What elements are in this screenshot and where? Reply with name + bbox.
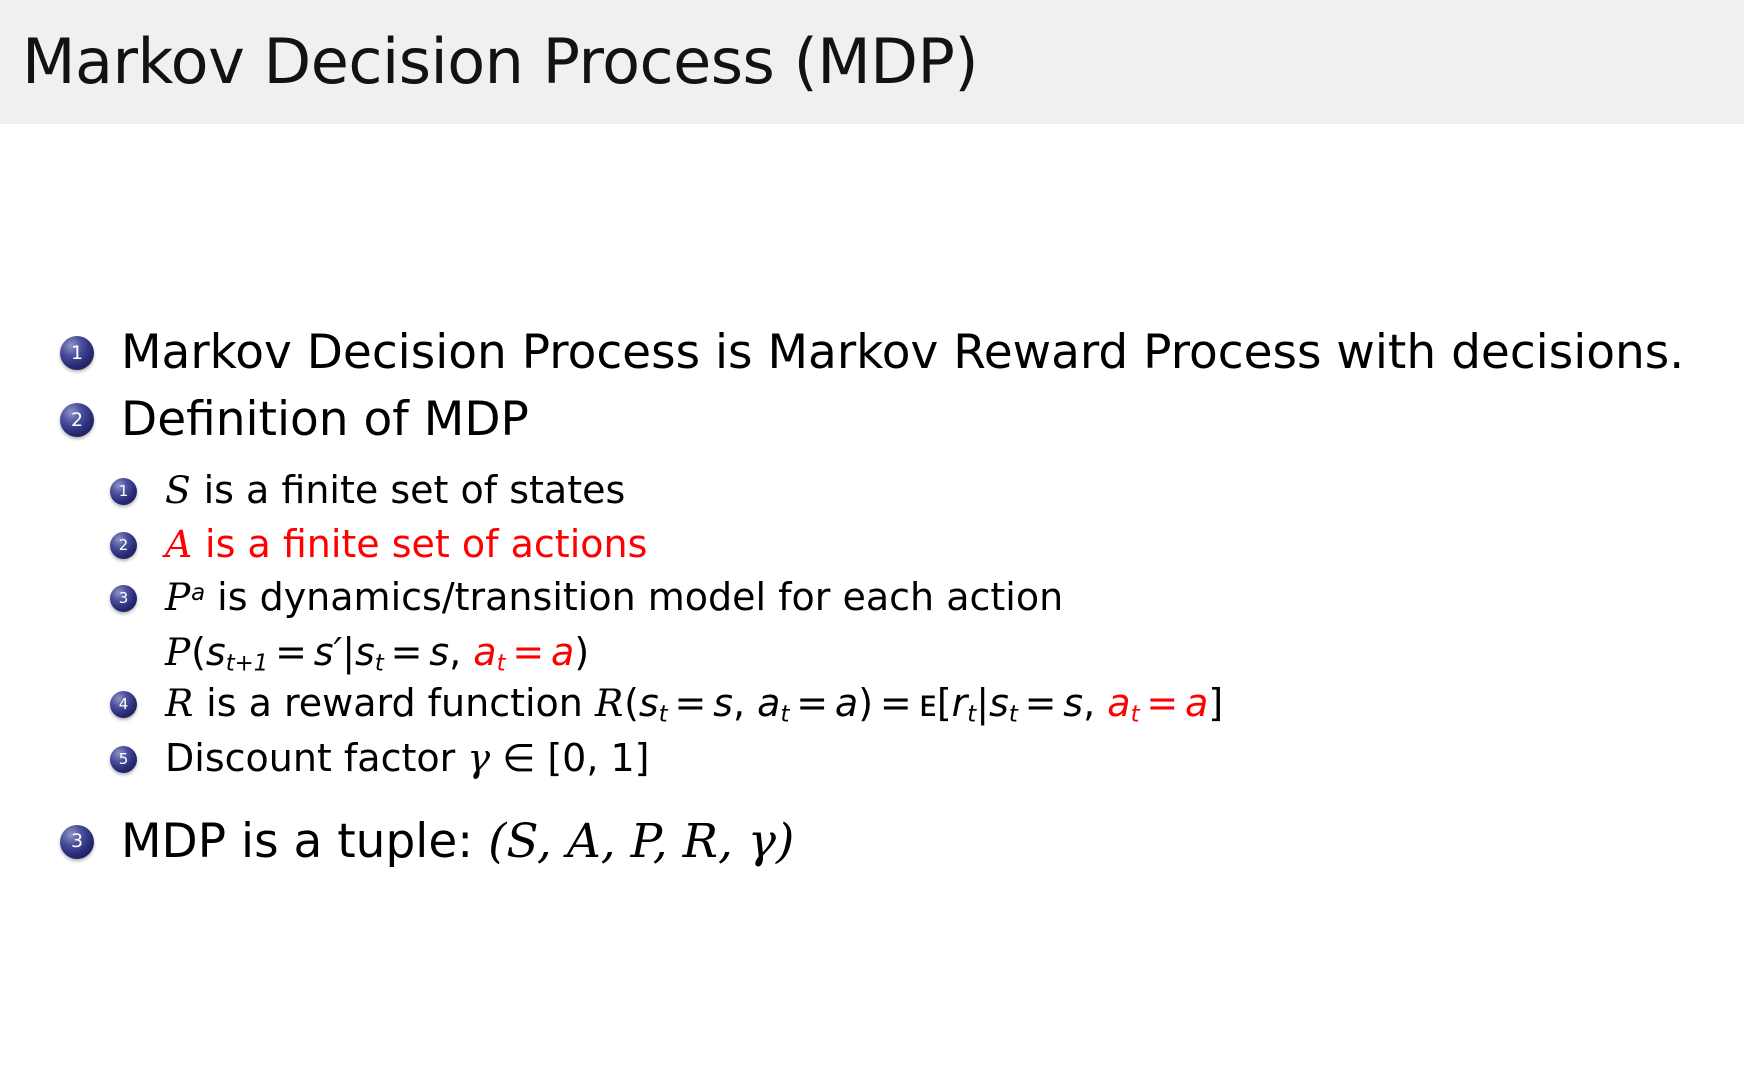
sub-list-item-label: Discount factor (165, 736, 455, 780)
reward-val-a2: a (1185, 681, 1208, 725)
formula-var-s-t: s (355, 630, 375, 674)
sub-list-item: 4 R is a reward function R(st=s, at=a)=ᴇ… (110, 680, 1744, 729)
formula-sub-tplus1: t+1 (226, 651, 269, 677)
reward-var-a2: a (1107, 681, 1130, 725)
slide-header: Markov Decision Process (MDP) (0, 0, 1744, 124)
reward-sub-t4: t (1009, 701, 1018, 727)
reward-equals-4: = (1140, 681, 1186, 725)
sub-list-item: 3 Pa is dynamics/transition model for ea… (110, 574, 1744, 622)
sub-list-item-text-highlighted: A is a finite set of actions (165, 521, 647, 569)
sub-list-item-label: is dynamics/transition model for each ac… (217, 575, 1063, 619)
list-item: 3 MDP is a tuple: (S, A, P, R, γ) (0, 813, 1744, 870)
formula-var-s-next: s (206, 630, 226, 674)
formula-val-sprime: s′ (314, 630, 342, 674)
reward-val-s2: s (1063, 681, 1083, 725)
math-symbol-P: P (165, 575, 191, 619)
reward-equals-mid: = (873, 681, 919, 725)
reward-action-term: at=a (1107, 681, 1208, 725)
formula-action-term: at=a (473, 630, 574, 674)
sub-list-item-label: is a finite set of states (204, 468, 626, 512)
reward-val-s: s (713, 681, 733, 725)
page-title: Markov Decision Process (MDP) (0, 31, 978, 93)
list-item: 1 Markov Decision Process is Markov Rewa… (0, 324, 1744, 381)
formula-val-s: s (429, 630, 449, 674)
reward-sub-t1: t (659, 701, 668, 727)
sub-outline-list: 1 S is a finite set of states 2 A is a f… (0, 467, 1744, 783)
reward-var-s: s (639, 681, 659, 725)
list-item-text: Markov Decision Process is Markov Reward… (121, 324, 1684, 381)
sub-list-item-label: is a reward function (206, 681, 583, 725)
reward-sub-t5: t (1131, 701, 1140, 727)
bullet-badge-2-1: 1 (110, 478, 137, 505)
reward-fn-R: R (595, 681, 624, 725)
formula-equals-3: = (506, 630, 552, 674)
formula-paren-open: ( (191, 630, 206, 674)
bullet-badge-2: 2 (60, 403, 94, 437)
mdp-tuple-expression: (S, A, P, R, γ) (488, 814, 795, 869)
bullet-badge-2-4: 4 (110, 691, 137, 718)
formula-sub-t-action: t (497, 651, 506, 677)
reward-var-s2: s (989, 681, 1009, 725)
reward-comma-2: , (1083, 681, 1095, 725)
reward-paren-close: ) (858, 681, 873, 725)
reward-bracket-close: ] (1208, 681, 1223, 725)
formula-val-a: a (551, 630, 574, 674)
outline-list: 1 Markov Decision Process is Markov Rewa… (0, 324, 1744, 880)
math-symbol-A: A (165, 522, 193, 566)
formula-fn-P: P (165, 630, 191, 674)
expectation-symbol: ᴇ (919, 681, 937, 725)
element-of-symbol: ∈ (502, 736, 535, 780)
formula-var-a-t: a (473, 630, 496, 674)
sub-list-item-text: Discount factor γ ∈ [0, 1] (165, 735, 650, 783)
list-item: 2 Definition of MDP (0, 391, 1744, 448)
math-symbol-S: S (165, 468, 192, 512)
reward-sub-t3: t (967, 701, 976, 727)
reward-var-a: a (757, 681, 780, 725)
math-superscript-a: a (191, 580, 205, 606)
reward-equals-3: = (1018, 681, 1064, 725)
sub-list-item-label: is a finite set of actions (205, 522, 647, 566)
bullet-badge-2-2: 2 (110, 532, 137, 559)
formula-comma: , (449, 630, 461, 674)
sub-list-item: 2 A is a finite set of actions (110, 521, 1744, 569)
reward-bracket-open: [ (937, 681, 952, 725)
reward-var-r: r (952, 681, 968, 725)
formula-bar: | (342, 630, 355, 674)
sub-list-item-text: R is a reward function R(st=s, at=a)=ᴇ[r… (165, 680, 1223, 729)
formula-equals-2: = (384, 630, 430, 674)
discount-interval: [0, 1] (547, 736, 649, 780)
slide-content: 1 Markov Decision Process is Markov Rewa… (0, 124, 1744, 1080)
reward-bar: | (976, 681, 989, 725)
sub-list-item-text: S is a finite set of states (165, 467, 625, 515)
reward-equals-2: = (789, 681, 835, 725)
sub-list-item: 5 Discount factor γ ∈ [0, 1] (110, 735, 1744, 783)
slide-root: { "slide": { "title": "Markov Decision P… (0, 0, 1744, 1080)
list-item-text: Definition of MDP (121, 391, 529, 448)
formula-sub-t: t (375, 651, 384, 677)
sub-list-item-text: Pa is dynamics/transition model for each… (165, 574, 1063, 622)
bullet-badge-2-3: 3 (110, 585, 137, 612)
reward-equals-1: = (668, 681, 714, 725)
math-symbol-R: R (165, 681, 194, 725)
reward-paren-open: ( (624, 681, 639, 725)
list-item-text: MDP is a tuple: (S, A, P, R, γ) (121, 813, 795, 870)
bullet-badge-3: 3 (60, 825, 94, 859)
transition-formula: P(st+1=s′|st=s, at=a) (138, 628, 1744, 679)
formula-paren-close: ) (574, 630, 589, 674)
bullet-badge-1: 1 (60, 336, 94, 370)
reward-val-a: a (835, 681, 858, 725)
mdp-tuple-label: MDP is a tuple: (121, 814, 473, 869)
sub-list-item: 1 S is a finite set of states (110, 467, 1744, 515)
formula-equals-1: = (268, 630, 314, 674)
reward-comma-1: , (733, 681, 745, 725)
bullet-badge-2-5: 5 (110, 746, 137, 773)
gamma-symbol: γ (467, 736, 490, 780)
